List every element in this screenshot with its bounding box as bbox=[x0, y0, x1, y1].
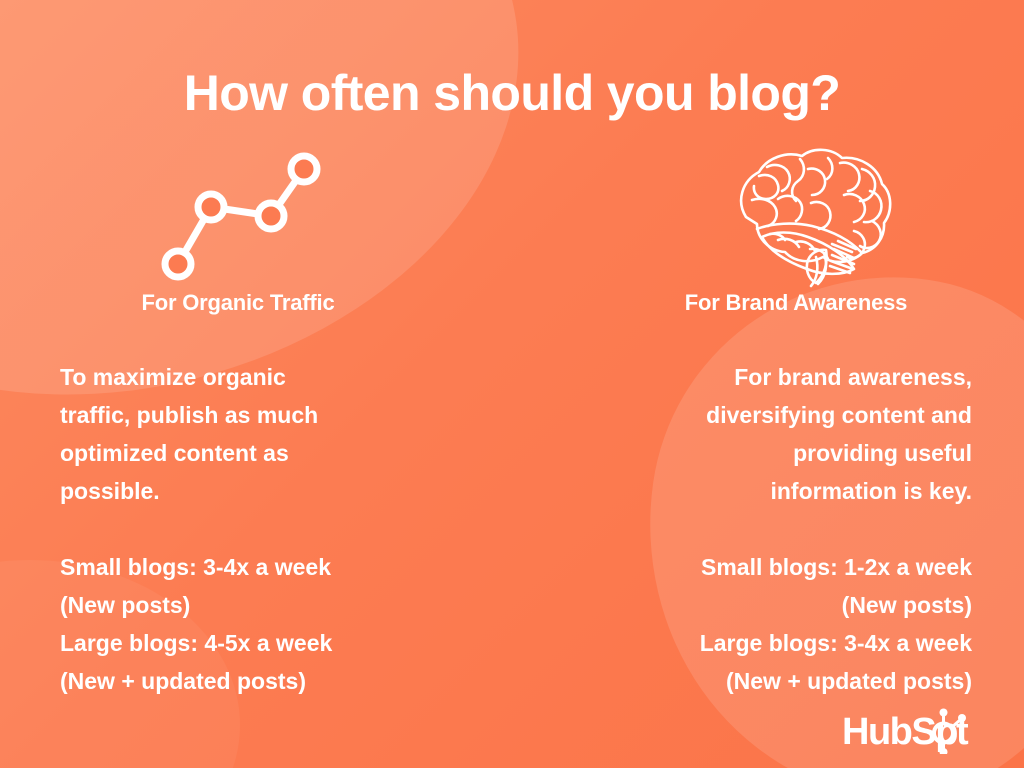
stats-text-brand-awareness: Small blogs: 1-2x a week (New posts) Lar… bbox=[572, 548, 972, 700]
column-brand-awareness: For Brand Awareness For brand awareness,… bbox=[572, 140, 972, 700]
column-organic-traffic: For Organic Traffic To maximize organic … bbox=[60, 140, 460, 700]
line-chart-icon bbox=[156, 146, 376, 291]
stat-line: (New + updated posts) bbox=[572, 662, 972, 700]
advice-line: providing useful bbox=[572, 434, 972, 472]
advice-text-organic-traffic: To maximize organic traffic, publish as … bbox=[60, 358, 460, 510]
brain-icon-wrap bbox=[572, 140, 972, 290]
stat-line: (New + updated posts) bbox=[60, 662, 460, 700]
stat-line: Small blogs: 1-2x a week bbox=[572, 548, 972, 586]
stat-line: Small blogs: 3-4x a week bbox=[60, 548, 460, 586]
column-heading-organic-traffic: For Organic Traffic bbox=[60, 290, 460, 316]
advice-line: To maximize organic bbox=[60, 358, 460, 396]
stat-line: (New posts) bbox=[572, 586, 972, 624]
hubspot-wordmark: HubSp bbox=[842, 711, 957, 753]
infographic-canvas: How often should you blog? For Organic T… bbox=[0, 0, 1024, 768]
advice-line: possible. bbox=[60, 472, 460, 510]
stat-line: (New posts) bbox=[60, 586, 460, 624]
advice-line: diversifying content and bbox=[572, 396, 972, 434]
stat-line: Large blogs: 4-5x a week bbox=[60, 624, 460, 662]
advice-line: optimized content as bbox=[60, 434, 460, 472]
hubspot-logo[interactable]: HubSp t bbox=[842, 708, 1002, 754]
brain-icon bbox=[712, 145, 912, 290]
advice-line: traffic, publish as much bbox=[60, 396, 460, 434]
advice-text-brand-awareness: For brand awareness, diversifying conten… bbox=[572, 358, 972, 510]
advice-line: information is key. bbox=[572, 472, 972, 510]
page-title: How often should you blog? bbox=[0, 66, 1024, 121]
stat-line: Large blogs: 3-4x a week bbox=[572, 624, 972, 662]
advice-line: For brand awareness, bbox=[572, 358, 972, 396]
stats-text-organic-traffic: Small blogs: 3-4x a week (New posts) Lar… bbox=[60, 548, 460, 700]
column-heading-brand-awareness: For Brand Awareness bbox=[572, 290, 972, 316]
line-chart-icon-wrap bbox=[60, 140, 460, 290]
